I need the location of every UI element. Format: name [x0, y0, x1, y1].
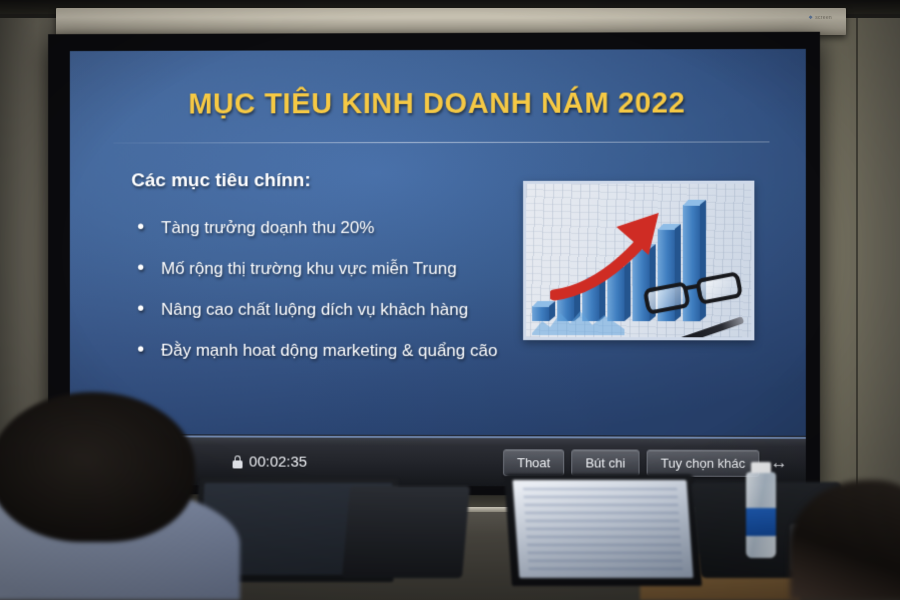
- projector-screen-housing: ❖screen: [56, 8, 846, 35]
- bottle-cap: [751, 462, 771, 473]
- slide-subheading: Các mục tiêu chínn:: [131, 170, 310, 192]
- bottle-label: [746, 508, 776, 536]
- bullet-list: Tàng trưởng doạnh thu 20% Mố rộng thị tr…: [135, 218, 534, 382]
- eyeglasses-object: [645, 273, 742, 319]
- audience-person-head: [0, 392, 195, 542]
- list-item: Tàng trưởng doạnh thu 20%: [135, 218, 534, 238]
- list-item: Đằy mạnh hoat dộng marketing & quẩng cão: [135, 341, 534, 361]
- laptop: [342, 486, 470, 578]
- presentation-slide: MỤC TIÊU KINH DOANH NÁM 2022 Các mục tiê…: [70, 49, 806, 436]
- laptop-screen: [513, 480, 694, 578]
- water-bottle: [744, 462, 778, 558]
- screen-brand-logo: ❖screen: [808, 15, 832, 21]
- page-title: MỤC TIÊU KINH DOANH NÁM 2022: [70, 87, 806, 122]
- growth-bar-chart-photo: [523, 181, 754, 341]
- glasses-lens-right: [695, 271, 744, 305]
- photo-mini-chart: [532, 305, 624, 335]
- brand-mark-icon: ❖: [808, 15, 813, 21]
- laptop: [504, 474, 702, 586]
- projection-screen-surface: MỤC TIÊU KINH DOANH NÁM 2022 Các mục tiê…: [70, 49, 806, 487]
- title-divider: [113, 141, 769, 143]
- audience-foreground: [0, 440, 900, 600]
- list-item: Mố rộng thị trường khu vực miễn Trung: [135, 259, 534, 279]
- list-item: Nâng cao chất luộng dích vụ khảch hàng: [135, 300, 534, 320]
